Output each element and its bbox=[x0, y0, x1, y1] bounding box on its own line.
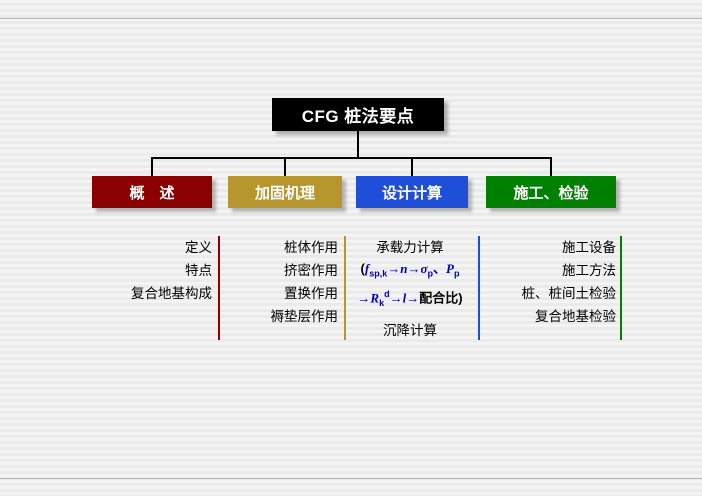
formula-arrow-1: → bbox=[387, 261, 400, 276]
column-separator-3 bbox=[478, 236, 480, 340]
list-item: 褥垫层作用 bbox=[222, 305, 338, 328]
formula-arrow-2: → bbox=[407, 261, 420, 276]
connector-title-stem bbox=[357, 131, 359, 158]
branch-box-design-label: 设计计算 bbox=[382, 182, 442, 203]
branch-box-mechanism-label: 加固机理 bbox=[255, 182, 315, 203]
detail-column-mechanism: 桩体作用 挤密作用 置换作用 褥垫层作用 bbox=[222, 236, 338, 328]
diagram-title-label: CFG 桩法要点 bbox=[302, 102, 415, 127]
formula-mix-ratio: 配合比 bbox=[419, 290, 458, 305]
formula-symbol-P: P bbox=[446, 261, 454, 276]
list-item: 施工方法 bbox=[484, 259, 616, 282]
list-item: 挤密作用 bbox=[222, 259, 338, 282]
branch-box-overview: 概 述 bbox=[92, 176, 212, 208]
formula-subscript-R-k: k bbox=[379, 298, 384, 308]
formula-arrow-5: → bbox=[406, 290, 419, 305]
slide-canvas: CFG 桩法要点 概 述 加固机理 设计计算 施工、检验 定义 特点 复合地基构… bbox=[0, 0, 702, 496]
formula-comma: 、 bbox=[433, 261, 446, 276]
formula-line-2: →Rkd→l→配合比) bbox=[348, 284, 472, 313]
list-item: 复合地基检验 bbox=[484, 305, 616, 328]
column-separator-4 bbox=[620, 236, 622, 340]
list-item: 定义 bbox=[100, 236, 212, 259]
connector-drop-2 bbox=[284, 157, 286, 176]
branch-box-construction: 施工、检验 bbox=[486, 176, 616, 208]
connector-drop-1 bbox=[151, 157, 153, 176]
connector-drop-4 bbox=[550, 157, 552, 176]
list-item: 置换作用 bbox=[222, 282, 338, 305]
list-item: 特点 bbox=[100, 259, 212, 282]
detail-column-overview: 定义 特点 复合地基构成 bbox=[100, 236, 212, 305]
list-item: 承载力计算 bbox=[348, 236, 472, 259]
connector-drop-3 bbox=[411, 157, 413, 176]
list-item: 复合地基构成 bbox=[100, 282, 212, 305]
connector-horizontal-bus bbox=[151, 157, 552, 159]
formula-subscript-P-p: p bbox=[454, 269, 460, 279]
branch-box-design: 设计计算 bbox=[356, 176, 468, 208]
formula-line-1: (fsp,k→n→σp、Pp bbox=[348, 259, 472, 284]
formula-paren-close: ) bbox=[458, 290, 462, 305]
column-separator-1 bbox=[218, 236, 220, 340]
column-separator-2 bbox=[344, 236, 346, 340]
formula-arrow-3: → bbox=[357, 290, 370, 305]
branch-box-construction-label: 施工、检验 bbox=[513, 182, 588, 203]
list-item: 施工设备 bbox=[484, 236, 616, 259]
list-item: 桩体作用 bbox=[222, 236, 338, 259]
formula-symbol-R: R bbox=[370, 290, 379, 305]
detail-column-construction: 施工设备 施工方法 桩、桩间土检验 复合地基检验 bbox=[484, 236, 616, 328]
branch-box-mechanism: 加固机理 bbox=[228, 176, 342, 208]
formula-subscript-spk: sp,k bbox=[369, 269, 387, 279]
slide-bottom-border bbox=[0, 478, 702, 479]
formula-arrow-4: → bbox=[390, 290, 403, 305]
diagram-title-box: CFG 桩法要点 bbox=[272, 98, 444, 131]
branch-box-overview-label: 概 述 bbox=[129, 182, 174, 203]
list-item: 桩、桩间土检验 bbox=[484, 282, 616, 305]
list-item: 沉降计算 bbox=[348, 319, 472, 342]
slide-top-border bbox=[0, 18, 702, 19]
detail-column-design: 承载力计算 (fsp,k→n→σp、Pp →Rkd→l→配合比) 沉降计算 bbox=[348, 236, 472, 342]
